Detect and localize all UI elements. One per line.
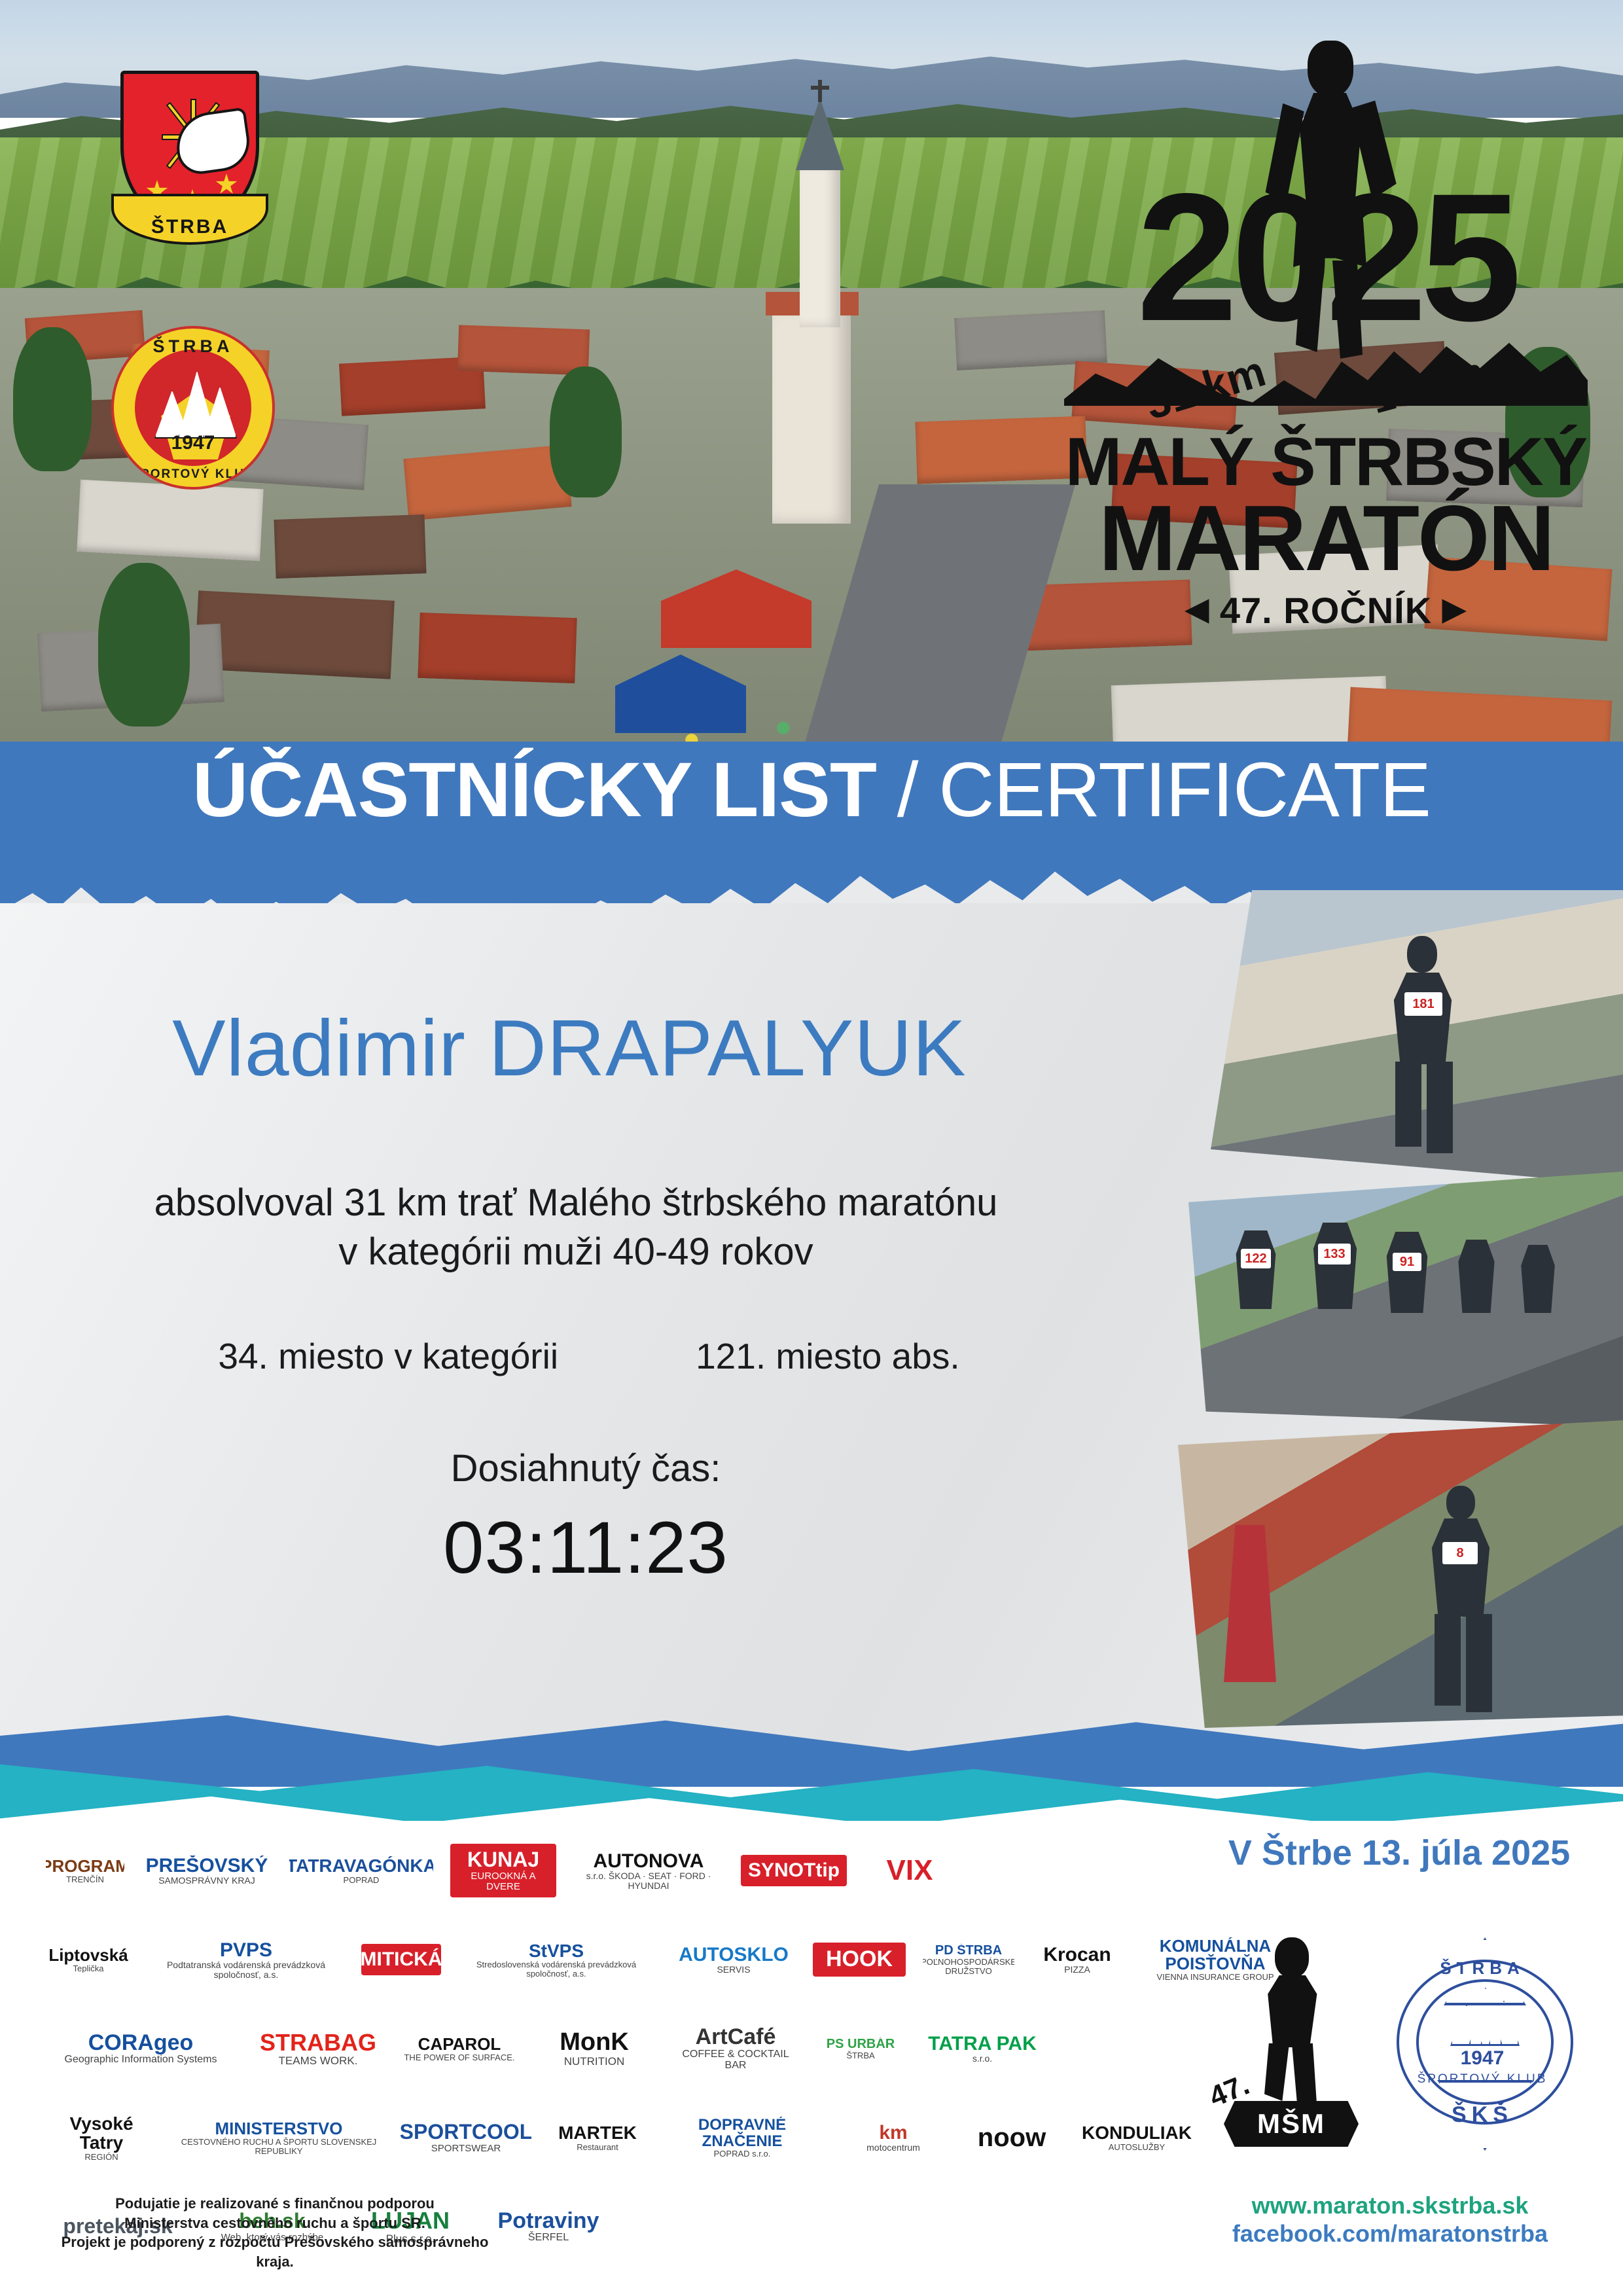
club-logo-top-label: ŠTRBA [114, 336, 272, 357]
sponsor-subtitle: AUTOSLUŽBY [1082, 2143, 1192, 2152]
sponsor-logo: ArtCaféCOFFEE & COCKTAIL BAR [670, 2026, 801, 2071]
sponsor-subtitle: REGIÓN [46, 2153, 157, 2162]
event-edition-label: 47. ROČNÍK [1220, 590, 1432, 631]
sponsor-logo: TATRAVAGÓNKAPOPRAD [289, 1856, 433, 1884]
sponsor-subtitle: SERVIS [679, 1965, 789, 1975]
sponsor-logo: STRABAGTEAMS WORK. [253, 2030, 383, 2067]
sponsor-subtitle: TRENČÍN [46, 1875, 124, 1884]
facebook-link[interactable]: facebook.com/maratonstrba [1194, 2219, 1586, 2248]
banner-title-light: / CERTIFICATE [897, 747, 1431, 833]
sponsor-subtitle: POPRAD s.r.o. [664, 2149, 821, 2159]
stamp-club-label: ŠPORTOVÝ KLUB [1387, 2072, 1577, 2087]
msm-abbr-label: MŠM [1257, 2108, 1325, 2140]
sponsor-logo: SPORTCOOLSPORTSWEAR [401, 2121, 531, 2153]
sponsor-subtitle: NUTRITION [560, 2056, 629, 2068]
sponsor-name: CORAgeoGeographic Information Systems [65, 2032, 217, 2066]
church-tower [800, 164, 840, 327]
sponsor-logo: HOOK [813, 1943, 906, 1977]
strba-coat-of-arms: ŠTRBA [120, 71, 259, 253]
sponsor-row: PROGRAMTRENČÍNPREŠOVSKÝSAMOSPRÁVNY KRAJT… [46, 1826, 1158, 1915]
event-title-line2: MARATÓN [1058, 492, 1594, 585]
sponsor-logo: PREŠOVSKÝSAMOSPRÁVNY KRAJ [141, 1856, 272, 1886]
participant-name: Vladimir DRAPALYUK [0, 1008, 1139, 1088]
sponsor-logo: TATRA PAKs.r.o. [920, 2034, 1044, 2064]
sponsor-name: KrocanPIZZA [1043, 1945, 1111, 1975]
sponsor-subtitle: TEAMS WORK. [260, 2055, 376, 2067]
finish-time-value: 03:11:23 [0, 1505, 1171, 1590]
banner-title: ÚČASTNÍCKY LIST / CERTIFICATE [0, 751, 1623, 829]
sponsor-row: Vysoké TatryREGIÓNMINISTERSTVOCESTOVNÉHO… [46, 2093, 1158, 2182]
certificate-description: absolvoval 31 km trať Malého štrbského m… [0, 1178, 1152, 1277]
photo-group-runners: 122 133 91 [1188, 1172, 1623, 1427]
sponsor-logo: KrocanPIZZA [1031, 1945, 1123, 1975]
event-year: 2025 [1058, 166, 1594, 348]
placement-row: 34. miesto v kategórii 121. miesto abs. [0, 1335, 1178, 1377]
sponsor-name: StVPSStredoslovenská vodárenská prevádzk… [458, 1941, 654, 1979]
event-edition: ◀47. ROČNÍK▶ [1058, 589, 1594, 632]
sponsor-logo: MARTEKRestaurant [548, 2123, 647, 2151]
sponsor-logo: MITICKÁ [361, 1944, 441, 1975]
sponsor-logo: CAPAROLTHE POWER OF SURFACE. [401, 2036, 518, 2062]
stamp-top-label: ŠTRBA [1387, 1958, 1577, 1979]
sponsor-logo: kmmotocentrum [838, 2123, 949, 2153]
club-logo-bottom-label: ŠPORTOVÝ KLUB [114, 467, 272, 482]
sponsor-subtitle: ŠTRBA [827, 2051, 895, 2060]
sponsor-subtitle: POĽNOHOSPODÁRSKE DRUŽSTVO [923, 1958, 1014, 1975]
certificate-page: ŠTART ŠTRBA ŠTRBA 1947 [0, 0, 1623, 2296]
sponsor-name: KUNAJEUROOKNÁ A DVERE [454, 1849, 552, 1892]
sponsor-name: MonKNUTRITION [560, 2030, 629, 2068]
sponsor-logo: DOPRAVNÉ ZNAČENIEPOPRAD s.r.o. [664, 2117, 821, 2159]
msm-runner-icon [1255, 1937, 1327, 2092]
arrow-right-icon: ▶ [1442, 591, 1466, 626]
description-line-1: absolvoval 31 km trať Malého štrbského m… [0, 1178, 1152, 1227]
sponsor-subtitle: Stredoslovenská vodárenská prevádzková s… [458, 1960, 654, 1978]
sponsor-name: AUTONOVAs.r.o. ŠKODA · SEAT · FORD · HYU… [573, 1851, 724, 1891]
sponsor-subtitle: COFFEE & COCKTAIL BAR [670, 2049, 801, 2072]
sponsor-logo: MINISTERSTVOCESTOVNÉHO RUCHU A ŠPORTU SL… [174, 2120, 383, 2156]
msm-diamond: MŠM [1224, 2101, 1359, 2147]
sponsor-name: DOPRAVNÉ ZNAČENIEPOPRAD s.r.o. [664, 2117, 821, 2159]
sponsor-subtitle: Podtatranská vodárenská prevádzková spol… [148, 1960, 344, 1979]
sponsor-name: TATRAVAGÓNKAPOPRAD [289, 1856, 433, 1884]
sponsor-name: LiptovskáTeplička [48, 1946, 128, 1973]
sports-club-logo: ŠTRBA 1947 ŠPORTOVÝ KLUB [111, 326, 275, 490]
sponsor-name: MITICKÁ [361, 1949, 441, 1970]
crest-banner: ŠTRBA [111, 194, 268, 245]
church-body [772, 308, 851, 524]
sponsor-logo: KUNAJEUROOKNÁ A DVERE [450, 1844, 556, 1897]
sponsor-subtitle: Teplička [48, 1964, 128, 1973]
funding-note-line-1: Podujatie je realizované s finančnou pod… [46, 2194, 504, 2214]
sponsor-name: VIX [887, 1856, 933, 1886]
sponsor-name: PS URBÁRŠTRBA [827, 2037, 895, 2060]
sponsor-logo: CORAgeoGeographic Information Systems [46, 2032, 236, 2066]
club-logo-peaks-icon [154, 367, 237, 439]
funding-note: Podujatie je realizované s finančnou pod… [46, 2194, 504, 2272]
sponsor-row: LiptovskáTepličkaPVPSPodtatranská vodáre… [46, 1915, 1158, 2004]
sponsor-subtitle: EUROOKNÁ A DVERE [454, 1871, 552, 1892]
sponsor-name: PROGRAMTRENČÍN [46, 1857, 124, 1884]
website-link[interactable]: www.maraton.skstrba.sk [1194, 2191, 1586, 2219]
funding-note-line-2: Ministerstva cestovného ruchu a športu S… [46, 2214, 504, 2233]
sponsor-logo: KONDULIAKAUTOSLUŽBY [1075, 2123, 1199, 2151]
sponsor-name: kmmotocentrum [866, 2123, 920, 2153]
photo-collage: 181 122 133 91 8 [1152, 884, 1623, 1754]
sponsor-logo: MonKNUTRITION [535, 2030, 653, 2068]
sponsor-subtitle: PIZZA [1043, 1965, 1111, 1975]
club-logo-year: 1947 [114, 432, 272, 454]
sponsor-row: CORAgeoGeographic Information SystemsSTR… [46, 2004, 1158, 2093]
sponsor-logo: AUTONOVAs.r.o. ŠKODA · SEAT · FORD · HYU… [573, 1851, 724, 1891]
sponsor-subtitle: Restaurant [558, 2143, 637, 2152]
sponsor-name: MARTEKRestaurant [558, 2123, 637, 2151]
place-in-category: 34. miesto v kategórii [218, 1335, 558, 1377]
sponsor-name: PD ŠTRBAPOĽNOHOSPODÁRSKE DRUŽSTVO [923, 1944, 1014, 1975]
sponsor-subtitle: s.r.o. [928, 2054, 1037, 2064]
sponsor-logo: PD ŠTRBAPOĽNOHOSPODÁRSKE DRUŽSTVO [923, 1944, 1014, 1975]
certificate-date: V Štrbe 13. júla 2025 [1209, 1833, 1589, 1873]
church-cross-icon [818, 80, 822, 102]
sponsor-logo: LiptovskáTeplička [46, 1946, 131, 1973]
funding-note-line-3: Projekt je podporený z rozpočtu Prešovsk… [46, 2233, 504, 2271]
stamp-peaks-icon [1450, 1986, 1516, 2046]
event-logo: 2025 31 km 10 km MALÝ ŠTRBSKÝ MARATÓN ◀4… [1058, 35, 1594, 598]
sponsor-name: ArtCaféCOFFEE & COCKTAIL BAR [670, 2026, 801, 2071]
crest-banner-label: ŠTRBA [151, 216, 228, 238]
sponsor-name: TATRA PAKs.r.o. [928, 2034, 1037, 2064]
sponsor-name: STRABAGTEAMS WORK. [260, 2030, 376, 2067]
sponsor-name: SPORTCOOLSPORTSWEAR [401, 2121, 531, 2153]
sponsor-logo: PROGRAMTRENČÍN [46, 1857, 124, 1884]
sponsor-subtitle: CESTOVNÉHO RUCHU A ŠPORTU SLOVENSKEJ REP… [174, 2138, 383, 2155]
sponsor-subtitle: THE POWER OF SURFACE. [404, 2053, 514, 2062]
sponsor-name: PVPSPodtatranská vodárenská prevádzková … [148, 1940, 344, 1980]
sponsor-logo: PS URBÁRŠTRBA [818, 2037, 903, 2060]
finish-time-label: Dosiahnutý čas: [0, 1446, 1171, 1490]
sponsor-name: noow [978, 2124, 1046, 2151]
sponsor-name: PotravinyŠERFEL [498, 2210, 599, 2244]
sponsor-logo: StVPSStredoslovenská vodárenská prevádzk… [458, 1941, 654, 1979]
sponsor-name: PREŠOVSKÝSAMOSPRÁVNY KRAJ [146, 1856, 268, 1886]
sponsor-name: CAPAROLTHE POWER OF SURFACE. [404, 2036, 514, 2062]
club-stamp: ŠTRBA 1947 ŠPORTOVÝ KLUB ŠKŠ [1387, 1937, 1577, 2147]
sponsor-subtitle: SAMOSPRÁVNY KRAJ [146, 1876, 268, 1886]
description-line-2: v kategórii muži 40-49 rokov [0, 1227, 1152, 1276]
sponsor-name: Vysoké TatryREGIÓN [46, 2114, 157, 2161]
sponsor-subtitle: ŠERFEL [498, 2233, 599, 2244]
sponsor-subtitle: SPORTSWEAR [401, 2144, 531, 2154]
msm-badge: 47. MŠM [1209, 1937, 1366, 2147]
banner-title-bold: ÚČASTNÍCKY LIST [192, 747, 876, 833]
sponsor-name: KONDULIAKAUTOSLUŽBY [1082, 2123, 1192, 2151]
sponsor-name: SYNOTtip [748, 1860, 840, 1881]
sponsor-subtitle: s.r.o. ŠKODA · SEAT · FORD · HYUNDAI [573, 1871, 724, 1890]
photo-finisher-female: 181 [1211, 890, 1623, 1185]
sponsor-logo: SYNOTtip [741, 1855, 847, 1886]
contact-links: www.maraton.skstrba.sk facebook.com/mara… [1194, 2191, 1586, 2248]
sponsor-logo: Vysoké TatryREGIÓN [46, 2114, 157, 2161]
sponsor-subtitle: Geographic Information Systems [65, 2054, 217, 2066]
sponsor-logo: PVPSPodtatranská vodárenská prevádzková … [148, 1940, 344, 1980]
sponsor-subtitle: motocentrum [866, 2143, 920, 2153]
sponsor-subtitle: POPRAD [289, 1876, 433, 1885]
sponsor-logo: AUTOSKLOSERVIS [671, 1945, 796, 1975]
sponsor-name: MINISTERSTVOCESTOVNÉHO RUCHU A ŠPORTU SL… [174, 2120, 383, 2156]
photo-finish-line: 8 [1178, 1420, 1623, 1728]
stamp-abbr: ŠKŠ [1387, 2102, 1577, 2128]
sponsor-name: AUTOSKLOSERVIS [679, 1945, 789, 1975]
stamp-year: 1947 [1387, 2047, 1577, 2070]
sponsor-name: HOOK [826, 1948, 893, 1971]
place-absolute: 121. miesto abs. [696, 1335, 960, 1377]
arrow-left-icon: ◀ [1185, 591, 1209, 626]
sponsor-logo: VIX [864, 1856, 955, 1886]
distance-10km-label: 10 km [1366, 348, 1489, 423]
sponsor-logo: noow [966, 2124, 1058, 2151]
